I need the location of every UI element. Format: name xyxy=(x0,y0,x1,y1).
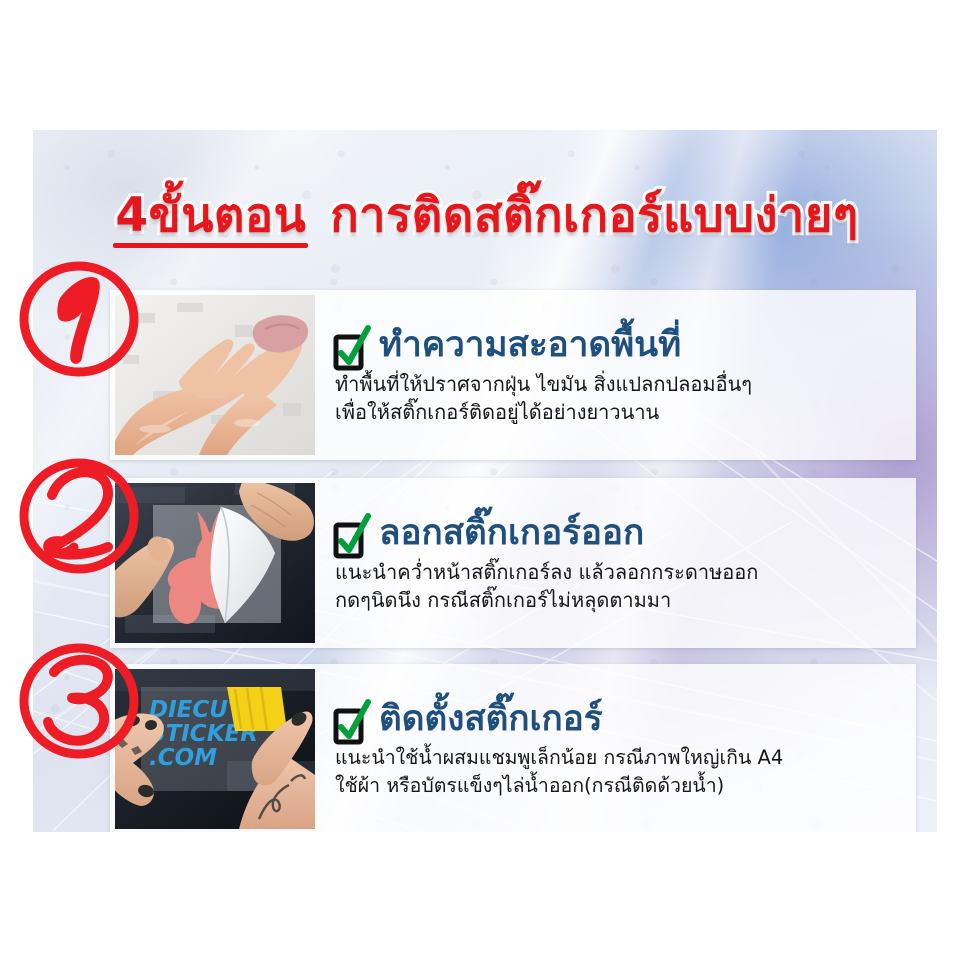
circled-number-2-icon xyxy=(16,455,142,577)
step-1-heading: ทำความสะอาดพื้นที่ xyxy=(379,326,681,365)
title-part-steps-count: 4ขั้นตอน xyxy=(111,192,310,239)
step-1-text: ทำความสะอาดพื้นที่ ทำพื้นที่ให้ปราศจากฝุ… xyxy=(315,290,916,460)
photo-cleaning-surface xyxy=(115,295,315,455)
circled-number-3-icon xyxy=(16,640,142,762)
step-1-line-1: ทำพื้นที่ให้ปราศจากฝุ่น ไขมัน สิ่งแปลกปล… xyxy=(335,370,906,398)
svg-text:.COM: .COM xyxy=(149,745,217,771)
step-1-line-2: เพื่อให้สติ๊กเกอร์ติดอยู่ได้อย่างยาวนาน xyxy=(335,398,906,426)
step-2-text: ลอกสติ๊กเกอร์ออก แนะนำคว่ำหน้าสติ๊กเกอร์… xyxy=(315,478,916,648)
step-2-line-2: กดๆนิดนึง กรณีสติ๊กเกอร์ไม่หลุดตามมา xyxy=(335,586,906,614)
photo-peeling-backing xyxy=(115,483,315,643)
step-2-line-1: แนะนำคว่ำหน้าสติ๊กเกอร์ลง แล้วลอกกระดาษอ… xyxy=(335,558,906,586)
step-3-heading: ติดตั้งสติ๊กเกอร์ xyxy=(379,700,603,739)
screenshot-canvas: 4ขั้นตอนการติดสติ๊กเกอร์แบบง่ายๆ xyxy=(0,0,960,960)
circled-number-1-icon xyxy=(16,258,142,380)
step-card-2: ลอกสติ๊กเกอร์ออก แนะนำคว่ำหน้าสติ๊กเกอร์… xyxy=(110,478,916,648)
step-card-1: ทำความสะอาดพื้นที่ ทำพื้นที่ให้ปราศจากฝุ… xyxy=(110,290,916,460)
checked-checkbox-icon xyxy=(333,703,367,743)
checked-checkbox-icon xyxy=(333,517,367,557)
step-2-heading: ลอกสติ๊กเกอร์ออก xyxy=(379,514,644,553)
checked-checkbox-icon xyxy=(333,329,367,369)
instruction-poster: 4ขั้นตอนการติดสติ๊กเกอร์แบบง่ายๆ xyxy=(33,130,937,832)
step-3-line-1: แนะนำใช้น้ำผสมแชมพูเล็กน้อย กรณีภาพใหญ่เ… xyxy=(335,744,906,772)
title-part-main: การติดสติ๊กเกอร์แบบง่ายๆ xyxy=(330,192,858,239)
poster-title: 4ขั้นตอนการติดสติ๊กเกอร์แบบง่ายๆ xyxy=(33,192,937,239)
step-3-text: ติดตั้งสติ๊กเกอร์ แนะนำใช้น้ำผสมแชมพูเล็… xyxy=(315,664,916,832)
step-3-line-2: ใช้ผ้า หรือบัตรแข็งๆไล่น้ำออก(กรณีติดด้ว… xyxy=(335,772,906,800)
photo-applying-sticker: DIECUT STICKER .COM xyxy=(115,669,315,829)
step-card-3: DIECUT STICKER .COM xyxy=(110,664,916,832)
